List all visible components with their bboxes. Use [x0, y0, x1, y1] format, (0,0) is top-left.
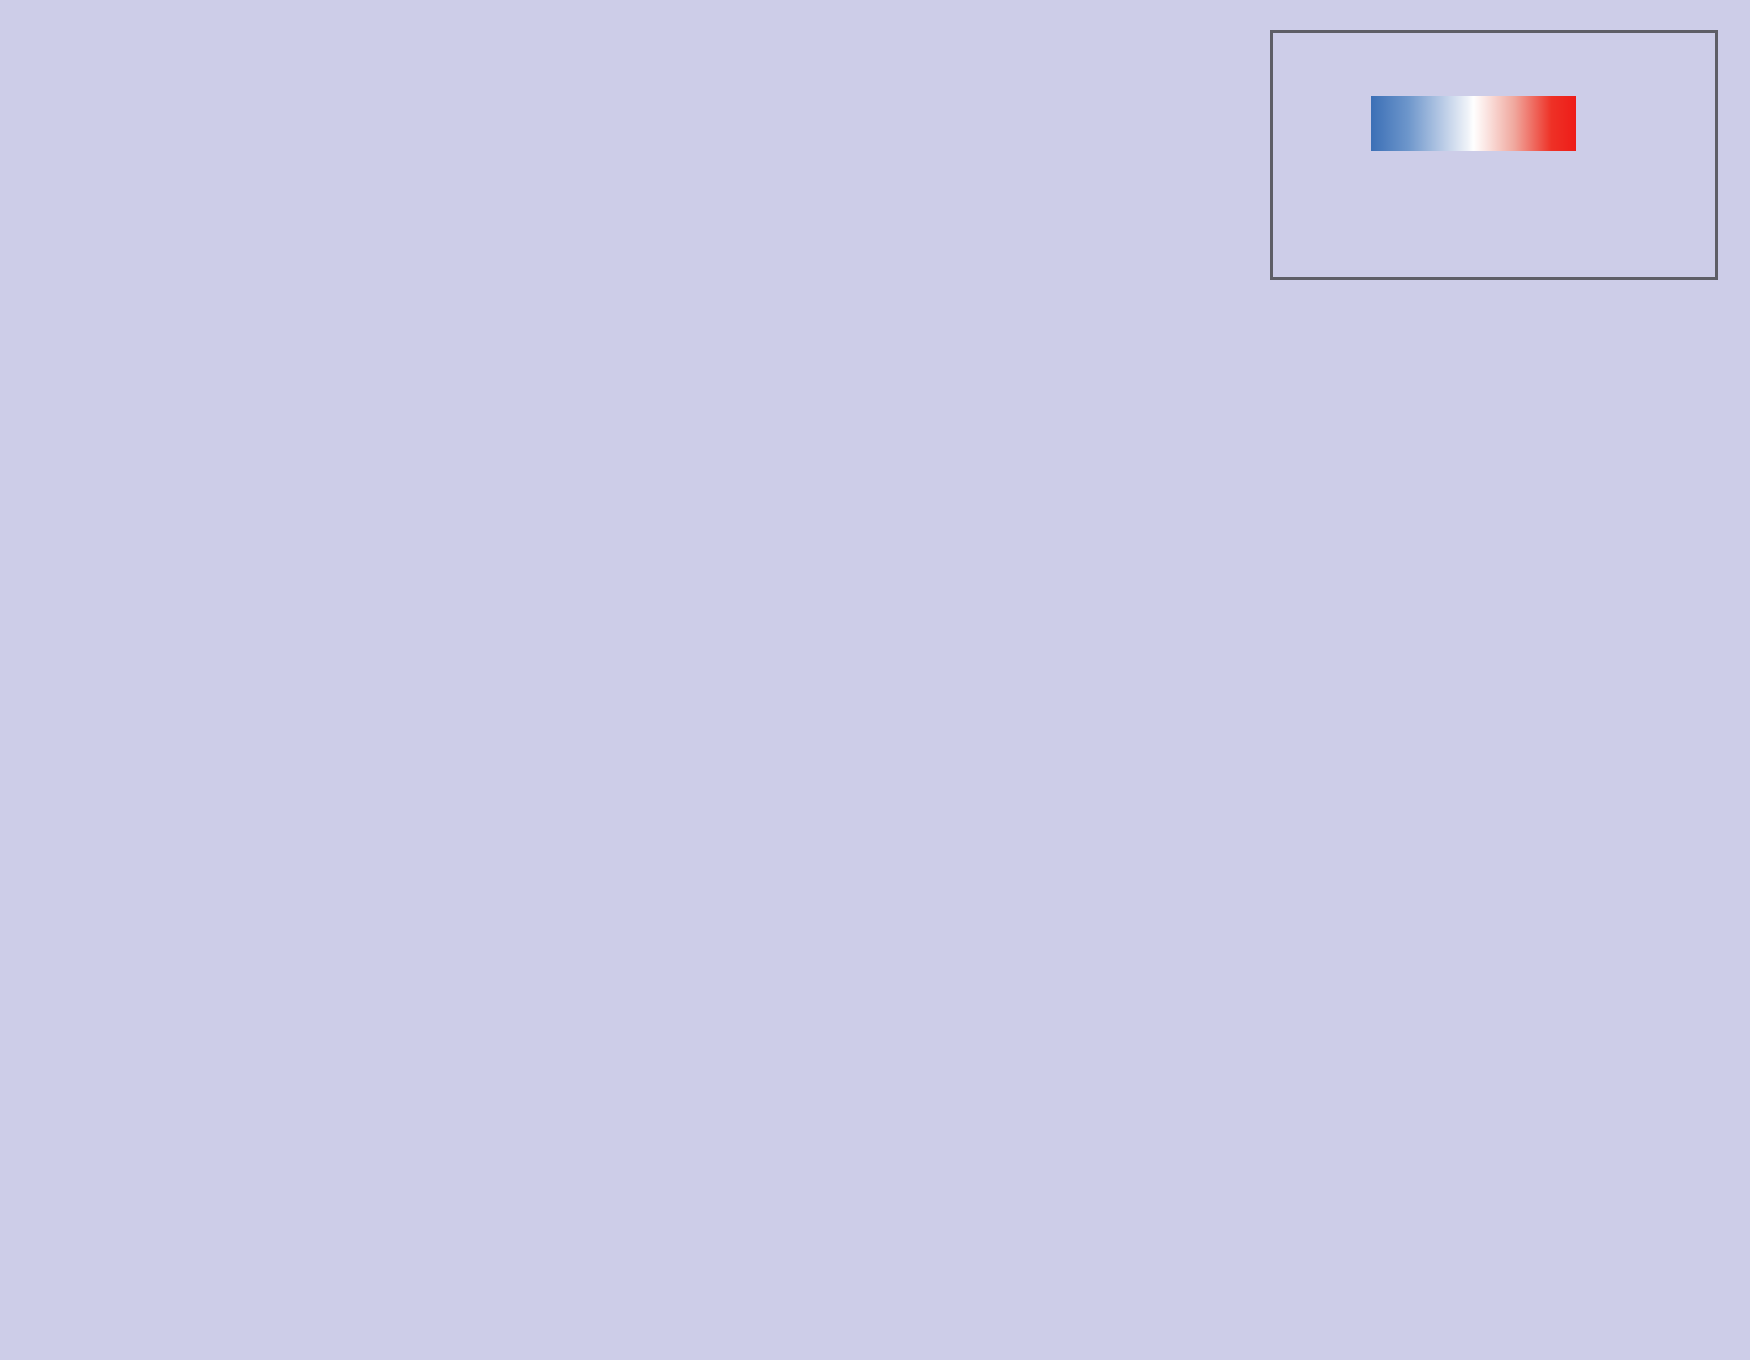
enrichment-map-figure — [0, 0, 1750, 1360]
legend-box — [1270, 30, 1718, 280]
legend-color-bar — [1371, 96, 1576, 151]
